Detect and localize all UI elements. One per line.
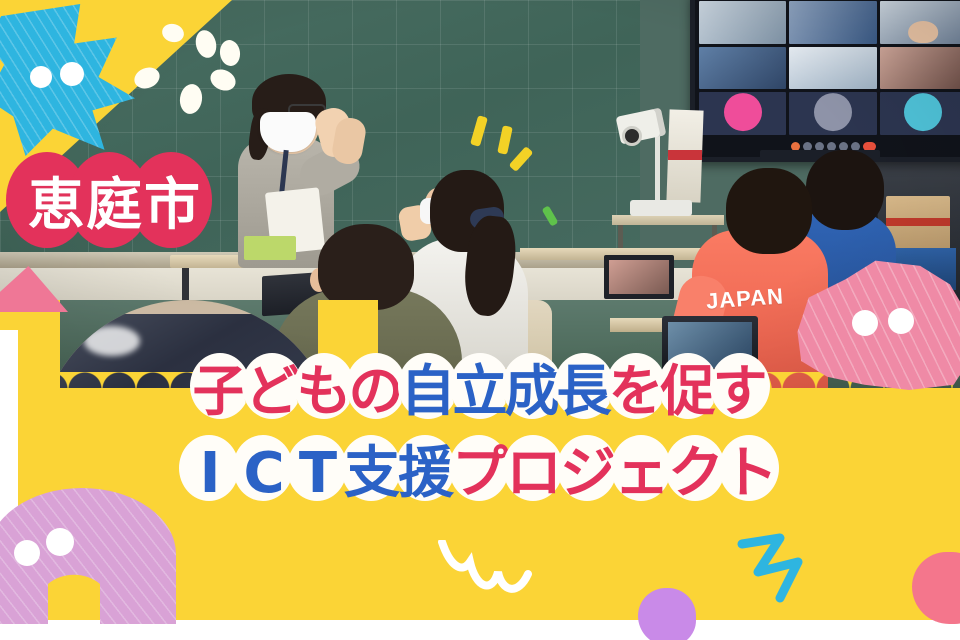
white-dot-burst bbox=[128, 22, 238, 114]
blue-blob-character bbox=[0, 4, 138, 156]
title2-char-10: ト bbox=[718, 434, 782, 514]
poster-title: 子どもの自立成長を促す ICT支援プロジェクト bbox=[0, 352, 960, 514]
dot bbox=[160, 21, 186, 44]
title-line-1: 子どもの自立成長を促す bbox=[0, 352, 960, 430]
blob-eye-right bbox=[888, 308, 914, 334]
white-wave-doodle bbox=[436, 540, 546, 602]
poster-canvas: JAPAN bbox=[0, 0, 960, 640]
dot bbox=[178, 83, 204, 116]
blue-zigzag-doodle bbox=[736, 528, 856, 610]
city-name: 恵庭市 bbox=[6, 148, 216, 252]
blob-eye-right bbox=[60, 62, 84, 86]
title1-char-10: す bbox=[709, 352, 771, 430]
city-badge: 恵庭市 bbox=[6, 148, 192, 252]
blob-eye-right bbox=[46, 528, 74, 556]
title-line-2: ICT支援プロジェクト bbox=[0, 434, 960, 514]
purple-dot bbox=[638, 588, 696, 640]
dot bbox=[207, 66, 239, 95]
blob-eye-left bbox=[852, 310, 878, 336]
dot bbox=[193, 28, 219, 60]
blob-eye-left bbox=[14, 540, 40, 566]
blob-eye-left bbox=[30, 66, 52, 88]
